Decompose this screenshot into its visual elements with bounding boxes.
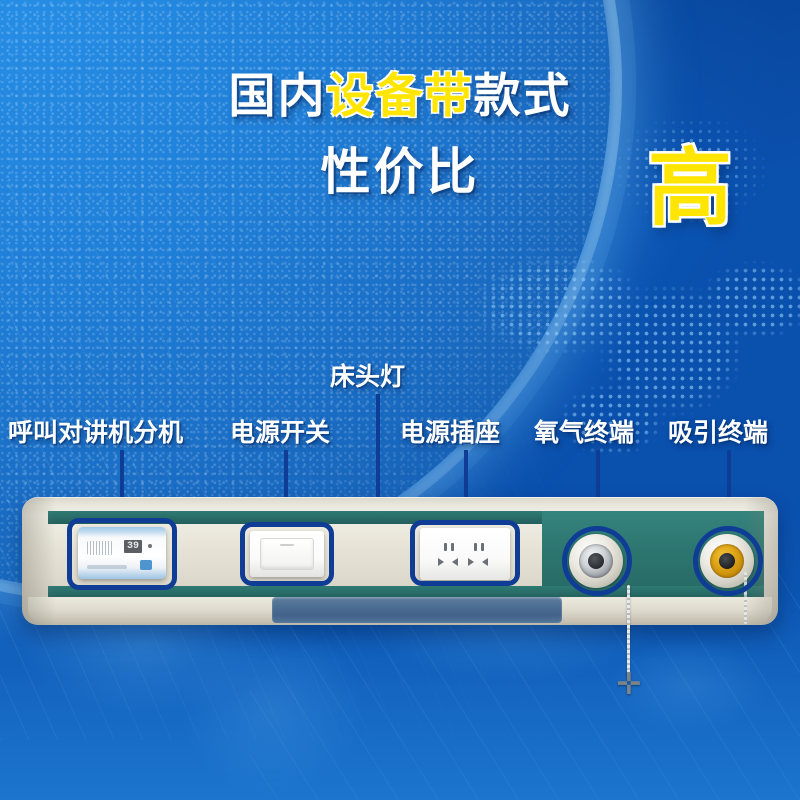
pull-cord-line[interactable]	[627, 585, 630, 677]
highlight-box-power-outlet	[410, 520, 520, 586]
headline-seg-2: 设备带	[327, 69, 474, 122]
callout-label-power-outlet: 电源插座	[400, 413, 500, 449]
highlight-circle-suction	[693, 526, 763, 596]
callout-label-bed-lamp: 床头灯	[330, 357, 405, 393]
headline-seg-3: 款式	[474, 69, 572, 122]
highlight-box-intercom	[67, 518, 177, 590]
pull-cord-handle-icon[interactable]: ✛	[616, 672, 642, 698]
bed-lamp-diffuser	[272, 597, 562, 623]
headline-line-1: 国内设备带款式	[0, 70, 800, 123]
highlight-box-power-switch	[240, 522, 334, 586]
panel-end-cap-left	[22, 497, 56, 625]
callout-label-oxygen-terminal: 氧气终端	[534, 413, 634, 449]
headline-block: 国内设备带款式 性价比 高	[0, 70, 800, 200]
headline-emphasis-word: 高	[648, 146, 732, 230]
callout-label-suction-terminal: 吸引终端	[668, 413, 768, 449]
headline-seg-1: 国内	[229, 69, 327, 122]
callout-label-intercom: 呼叫对讲机分机	[8, 413, 183, 449]
callout-label-power-switch: 电源开关	[230, 413, 330, 449]
highlight-circle-oxygen	[562, 526, 632, 596]
headline-subtitle: 性价比	[321, 144, 480, 200]
